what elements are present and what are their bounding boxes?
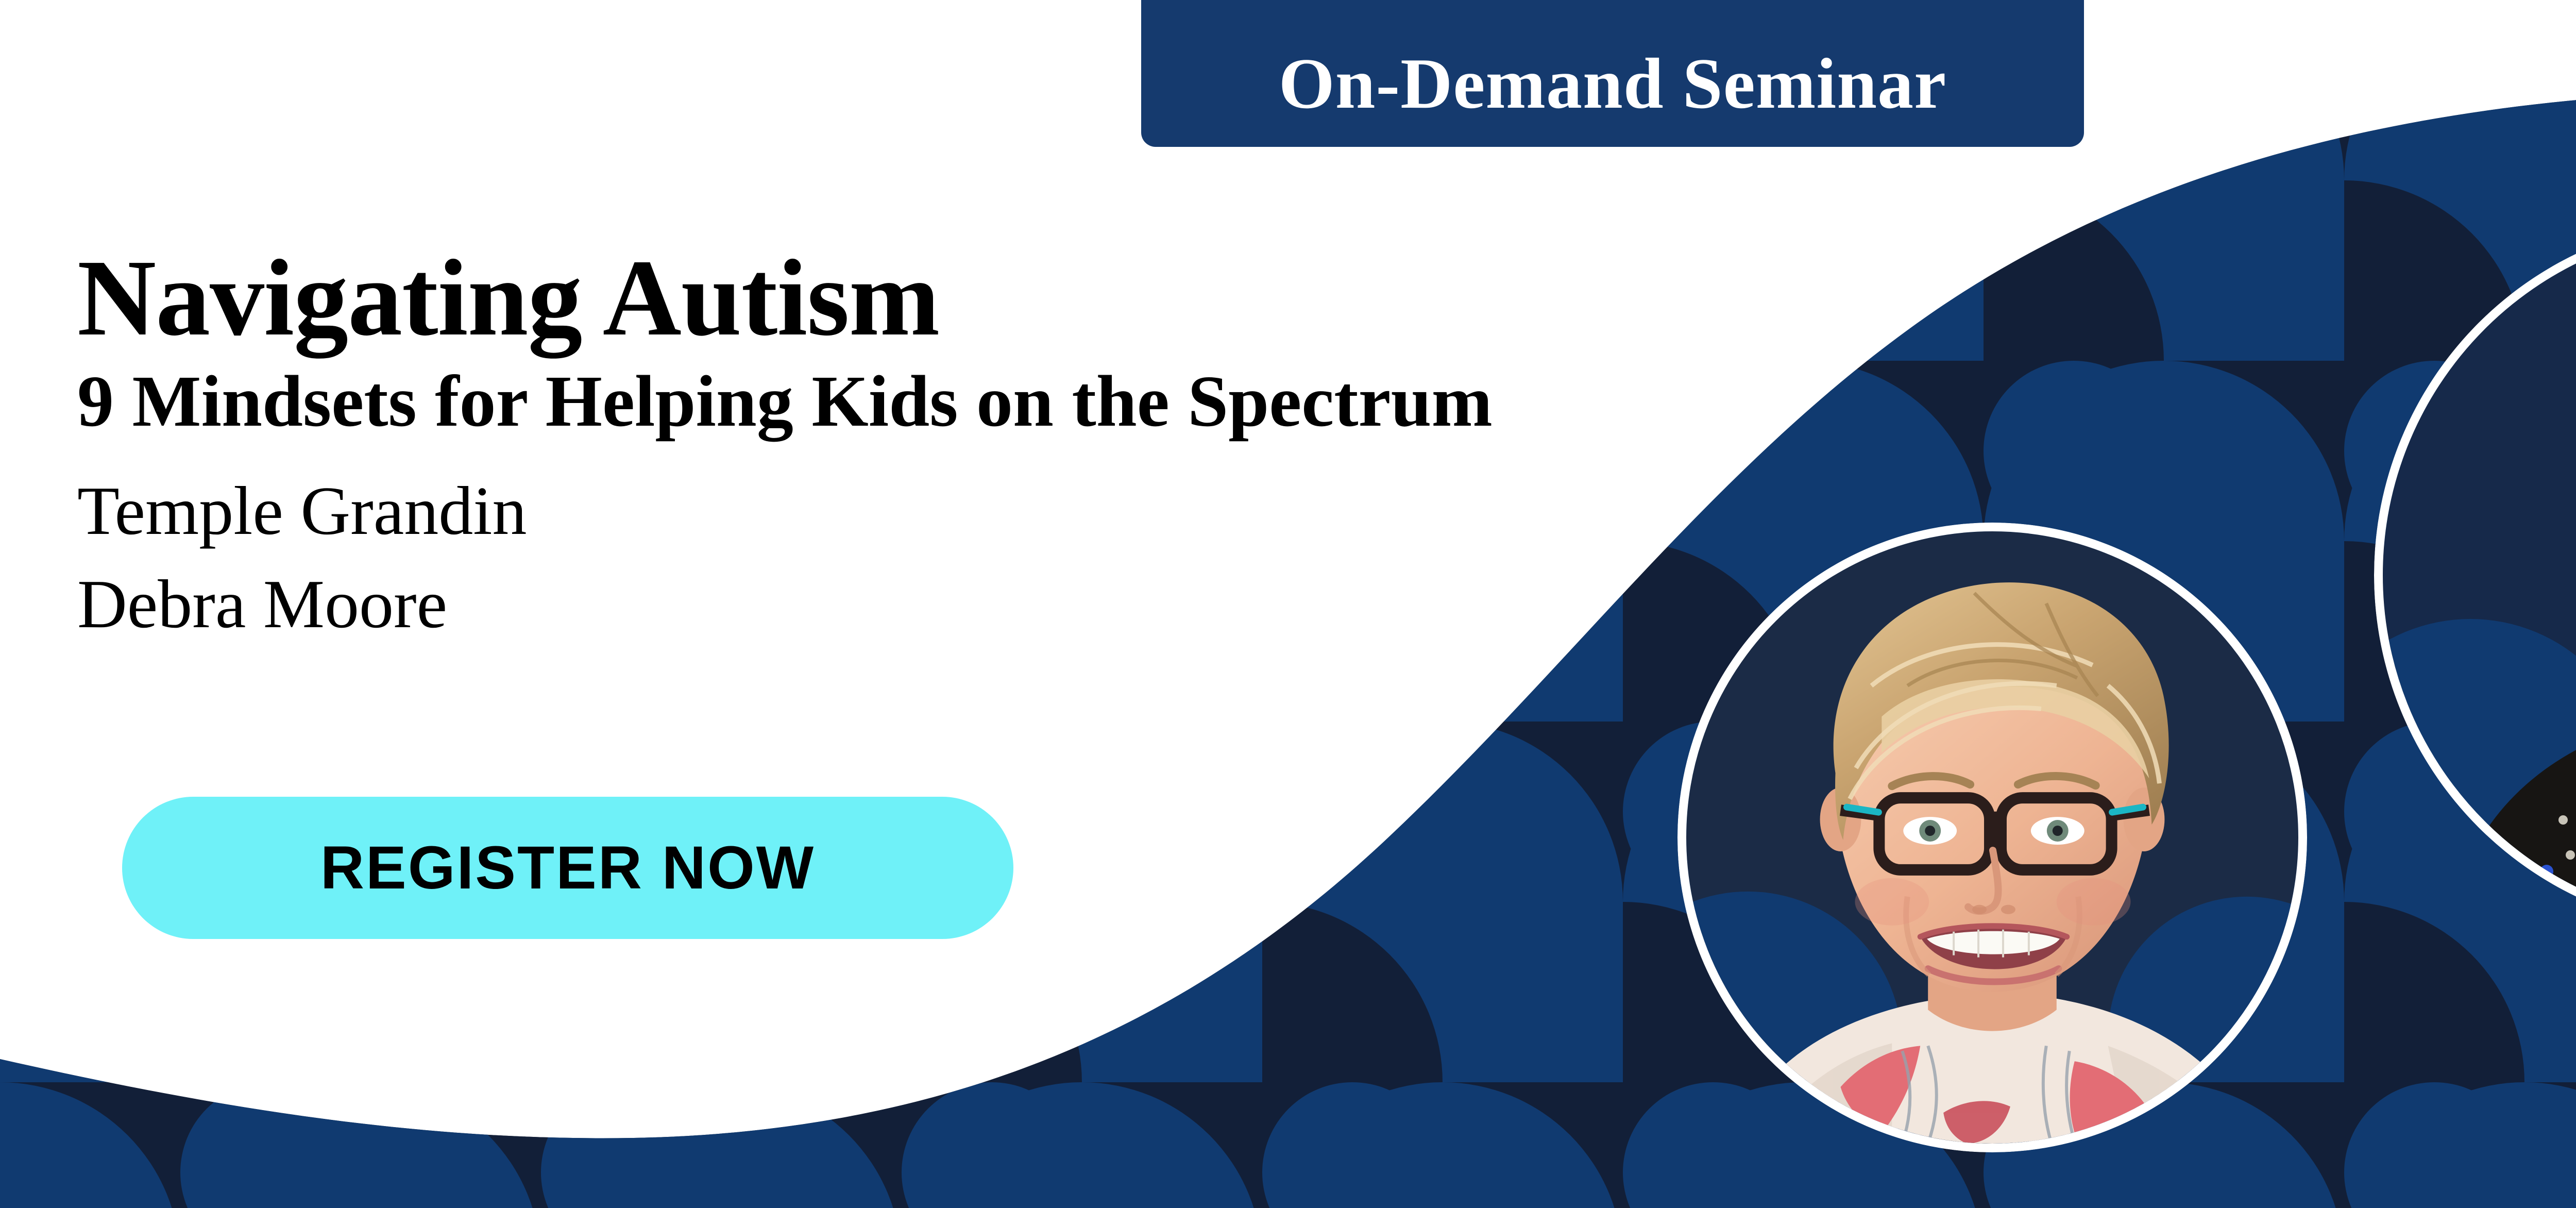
speaker-list: Temple Grandin Debra Moore [77,464,1880,651]
seminar-promo-banner: On-Demand Seminar Navigating Autism 9 Mi… [0,0,2576,1208]
headline-block: Navigating Autism 9 Mindsets for Helping… [77,242,1880,694]
speaker-name: Debra Moore [77,558,1880,651]
page-subtitle: 9 Mindsets for Helping Kids on the Spect… [77,363,1880,440]
speaker-name: Temple Grandin [77,464,1880,558]
on-demand-seminar-badge: On-Demand Seminar [1141,0,2084,147]
register-now-button[interactable]: REGISTER NOW [122,797,1013,939]
badge-label: On-Demand Seminar [1279,48,1946,120]
portrait-photo-debra-moore [1686,531,2298,1144]
register-now-label: REGISTER NOW [320,833,815,903]
page-title: Navigating Autism [77,242,1880,354]
portrait-debra-moore [1677,523,2307,1152]
